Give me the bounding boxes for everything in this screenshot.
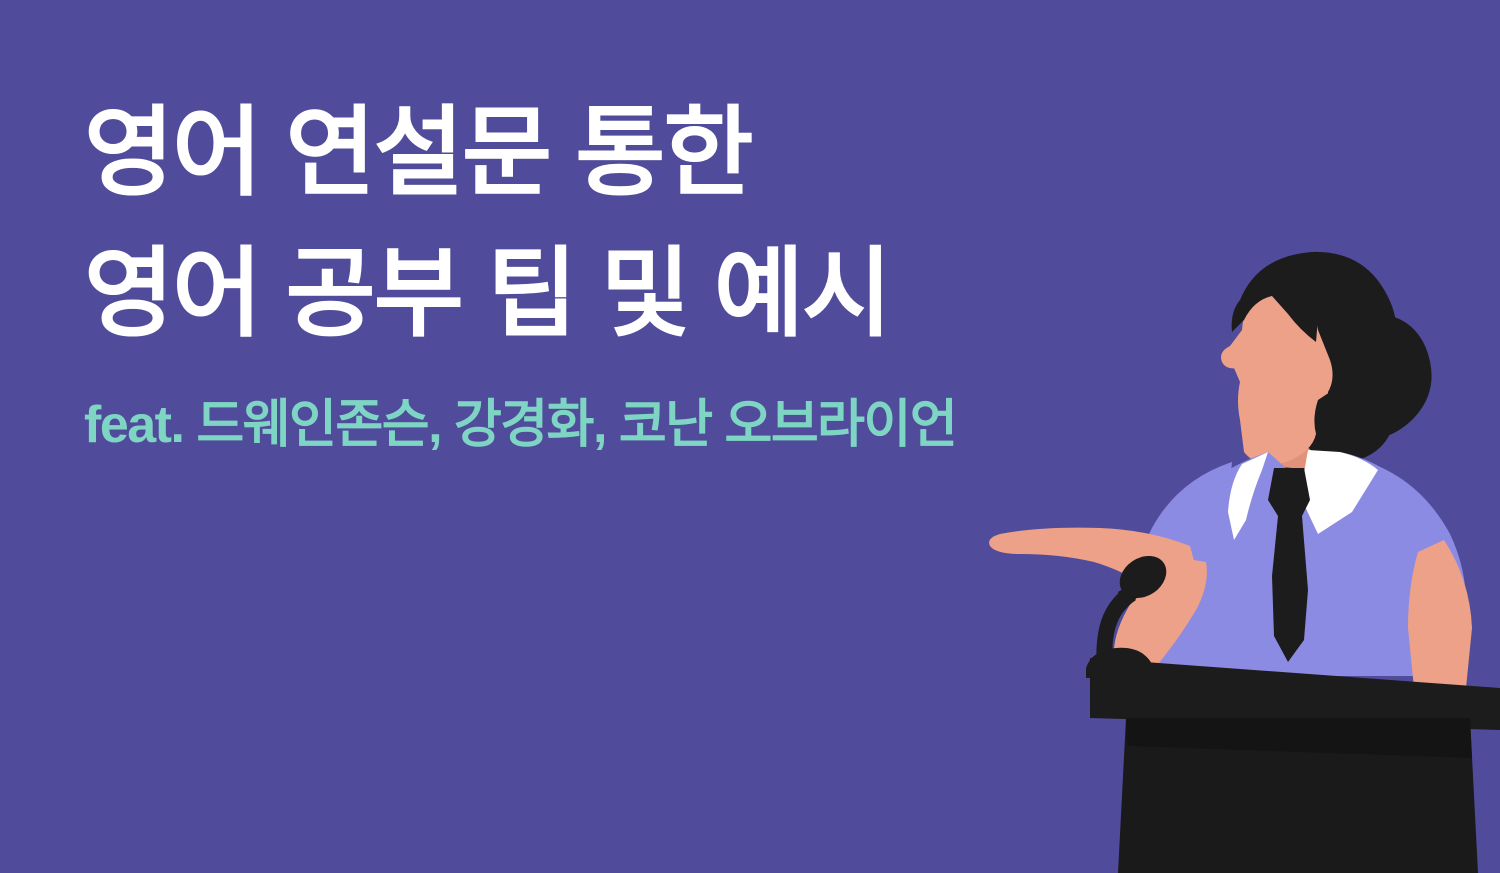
subtitle-text: feat. 드웨인존슨, 강경화, 코난 오브라이언 xyxy=(84,392,1114,460)
banner-canvas: 영어 연설문 통한 영어 공부 팁 및 예시 feat. 드웨인존슨, 강경화,… xyxy=(0,0,1500,873)
title-line-1: 영어 연설문 통한 xyxy=(84,78,1114,227)
tie-blade xyxy=(1272,516,1308,662)
tie-knot xyxy=(1268,468,1310,516)
title-line-2: 영어 공부 팁 및 예시 xyxy=(84,219,1114,368)
headline-block: 영어 연설문 통한 영어 공부 팁 및 예시 feat. 드웨인존슨, 강경화,… xyxy=(84,78,1114,460)
